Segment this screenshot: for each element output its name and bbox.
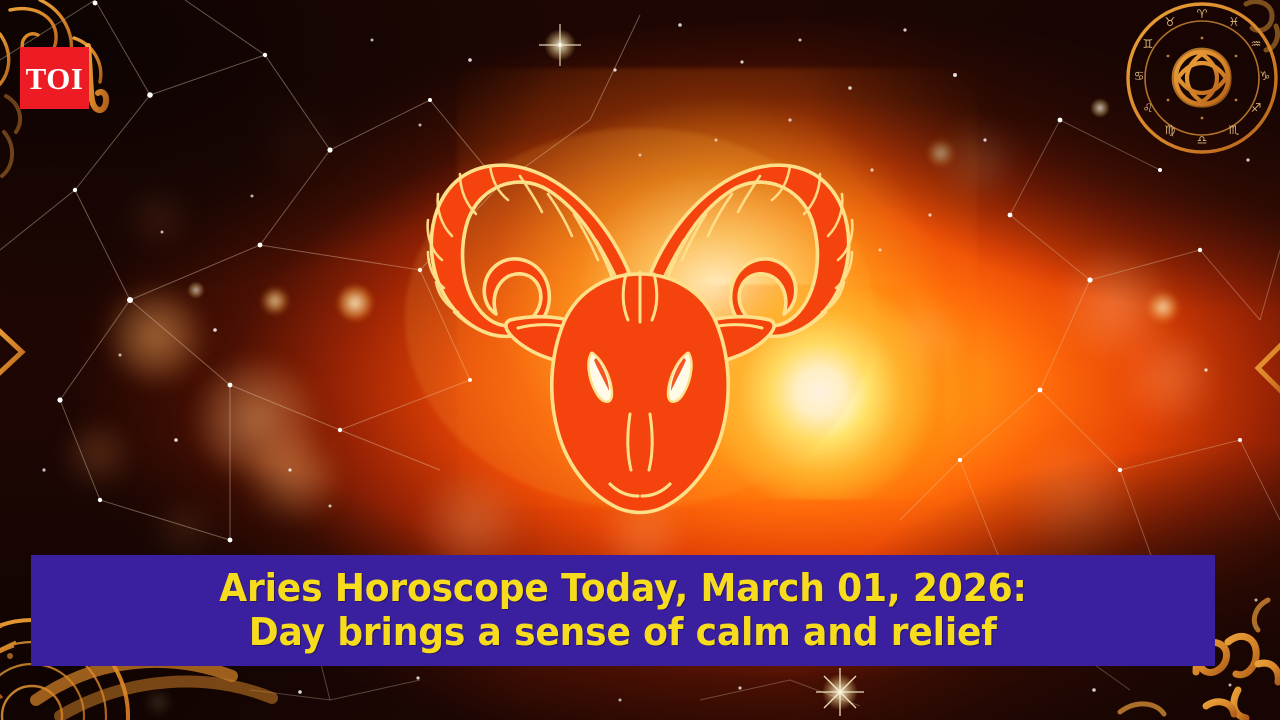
svg-text:♍: ♍ <box>1165 123 1176 137</box>
svg-text:♐: ♐ <box>1251 101 1262 115</box>
zodiac-wheel-ornament: ♈ ♉ ♊ ♋ ♌ ♍ ♎ ♏ ♐ ♑ ♒ ♓ <box>1128 4 1276 152</box>
chevron-ornament-right <box>1258 340 1280 396</box>
horoscope-thumbnail: ♈ ♉ ♊ ♋ ♌ ♍ ♎ ♏ ♐ ♑ ♒ ♓ <box>0 0 1280 720</box>
aries-ram-symbol <box>405 128 875 513</box>
mandala-bands <box>36 662 272 716</box>
svg-text:♑: ♑ <box>1260 69 1271 83</box>
svg-text:♊: ♊ <box>1143 37 1154 51</box>
svg-text:♋: ♋ <box>1134 69 1145 83</box>
svg-text:♉: ♉ <box>1165 15 1176 29</box>
caption-line-2: Day brings a sense of calm and relief <box>249 612 997 653</box>
svg-text:♓: ♓ <box>1229 15 1240 29</box>
svg-text:♈: ♈ <box>1197 7 1208 21</box>
caption-line-1: Aries Horoscope Today, March 01, 2026: <box>219 568 1027 609</box>
toi-logo[interactable]: TOI <box>20 47 89 109</box>
svg-text:♒: ♒ <box>1251 37 1262 51</box>
caption-bar: Aries Horoscope Today, March 01, 2026: D… <box>31 555 1215 666</box>
svg-text:♌: ♌ <box>1143 101 1154 115</box>
svg-text:♏: ♏ <box>1229 123 1240 137</box>
svg-text:♎: ♎ <box>1197 133 1208 147</box>
script-flourish-ornament-left <box>2 96 20 176</box>
chevron-ornament-left <box>0 326 22 378</box>
toi-logo-text: TOI <box>26 63 84 94</box>
